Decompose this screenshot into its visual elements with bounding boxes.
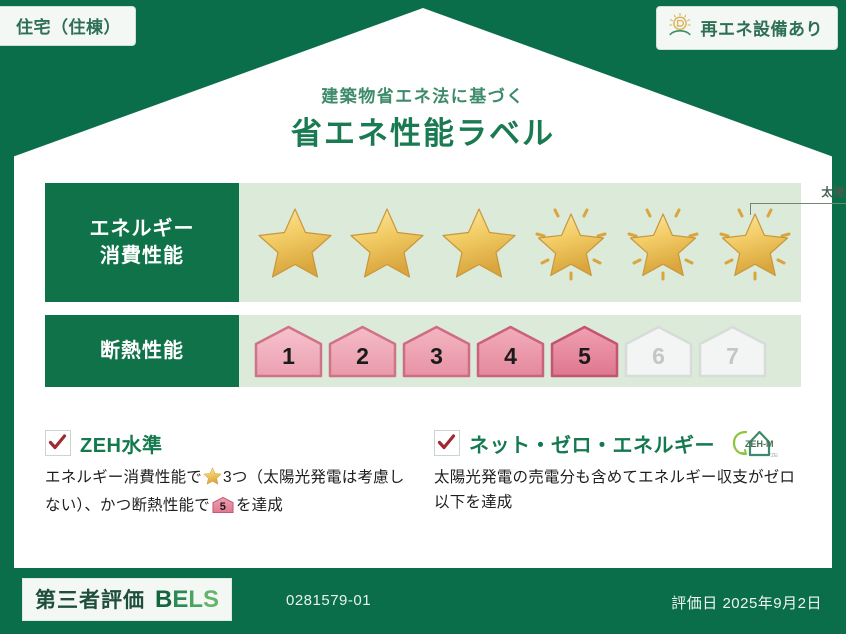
bels-letter-b: B [155,586,172,613]
solar-bracket-line [750,203,846,215]
energy-label-line2: 消費性能 [100,243,184,270]
criteria-zeh-standard: ZEH水準 エネルギー消費性能で3つ（太陽光発電は考慮しない）、かつ断熱性能で5… [45,428,416,536]
page-title: 省エネ性能ラベル [0,108,846,153]
bels-letter-s: S [203,586,219,613]
insulation-level-badge: 2 [327,324,398,379]
solar-sun-icon [667,12,693,43]
insulation-label-text: 断熱性能 [100,338,184,365]
star-rating [239,183,801,302]
insulation-level-inline-value: 5 [212,502,234,513]
zeh-m-logo-icon: ZEH-M 'ZEH-M' [726,426,778,460]
star-solar-icon [621,201,705,285]
insulation-level-value: 6 [652,345,665,379]
insulation-level-value: 3 [430,345,443,379]
criteria-description: エネルギー消費性能で3つ（太陽光発電は考慮しない）、かつ断熱性能で5を達成 [45,465,416,518]
solar-bracket-annotation: 太陽光発電(自家消費)分 [742,186,846,216]
energy-rating-area: 太陽光発電(自家消費)分 [239,183,801,302]
insulation-level-badge-achieved: 5 [549,324,620,379]
insulation-level-badge: 1 [253,324,324,379]
star-icon [437,201,521,285]
svg-text:ZEH-M: ZEH-M [745,439,774,449]
insulation-level-badge: 4 [475,324,546,379]
renewable-equipment-label: 再エネ設備あり [701,15,824,40]
insulation-performance-row: 断熱性能 1 [45,315,801,387]
criteria-heading-row: ネット・ゼロ・エネルギー ZEH-M 'ZEH-M' [434,428,805,458]
bels-letter-l: L [188,586,203,613]
svg-text:'ZEH-M': 'ZEH-M' [770,453,778,459]
insulation-level-badge: 6 [623,324,694,379]
certificate-number: 0281579-01 [286,592,371,609]
insulation-level-badge: 7 [697,324,768,379]
evaluation-date-value: 2025年9月2日 [722,595,822,612]
criteria-star-count: 3つ [223,469,248,486]
energy-performance-row: エネルギー 消費性能 [45,183,801,302]
check-icon [45,430,71,456]
law-subtitle: 建築物省エネ法に基づく [0,82,846,107]
insulation-performance-label: 断熱性能 [45,315,239,387]
bels-letter-e: E [172,586,188,613]
evaluation-date-label: 評価日 [671,595,718,612]
criteria-heading: ZEH水準 [80,429,163,458]
star-icon [345,201,429,285]
third-party-label: 第三者評価 [35,584,145,614]
criteria-description: 太陽光発電の売電分も含めてエネルギー収支がゼロ以下を達成 [434,465,805,515]
energy-label-line1: エネルギー [90,216,195,243]
star-icon [253,201,337,285]
star-solar-icon [529,201,613,285]
insulation-level-badges: 1 2 [239,315,801,387]
renewable-equipment-tag: 再エネ設備あり [656,6,839,50]
insulation-level-value: 2 [356,345,369,379]
bels-badge: 第三者評価 BELS [22,578,232,621]
bels-wordmark: BELS [155,586,219,614]
insulation-level-badge: 3 [401,324,472,379]
criteria-columns: ZEH水準 エネルギー消費性能で3つ（太陽光発電は考慮しない）、かつ断熱性能で5… [45,428,805,536]
insulation-level-value: 4 [504,345,517,379]
criteria-net-zero-energy: ネット・ゼロ・エネルギー ZEH-M 'ZEH-M' 太陽光発電の売電分も含めて… [434,428,805,536]
criteria-heading: ネット・ゼロ・エネルギー [469,429,715,458]
insulation-rating-area: 1 2 [239,315,801,387]
check-icon [434,430,460,456]
building-type-tag: 住宅（住棟） [0,6,136,46]
building-type-label: 住宅（住棟） [16,18,121,37]
evaluation-date: 評価日 2025年9月2日 [671,592,822,613]
criteria-heading-row: ZEH水準 [45,428,416,458]
star-icon [203,467,222,493]
energy-performance-label: エネルギー 消費性能 [45,183,239,302]
solar-bracket-label: 太陽光発電(自家消費)分 [742,184,846,200]
criteria-text-part1: エネルギー消費性能で [45,469,202,486]
insulation-level-value: 5 [578,345,591,379]
insulation-level-value: 7 [726,345,739,379]
insulation-level-value: 1 [282,345,295,379]
criteria-text-part3: を達成 [236,497,283,514]
footer: 第三者評価 BELS 0281579-01 評価日 2025年9月2日 [0,568,846,634]
insulation-level-inline-badge: 5 [212,496,234,514]
energy-label-card: 住宅（住棟） 再エネ設備あり 建築物省エネ法に基づく 省エ [0,0,846,634]
